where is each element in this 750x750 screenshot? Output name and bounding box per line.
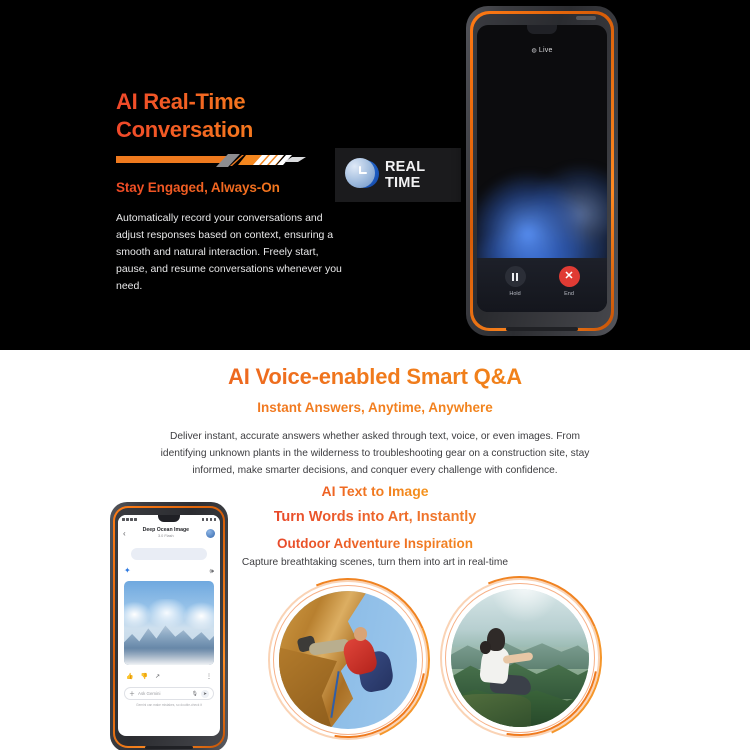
thumbs-up-icon[interactable]: 👍 (126, 673, 133, 680)
live-dot-icon: ◍ (531, 47, 536, 54)
thumbs-down-icon[interactable]: 👎 (140, 673, 147, 680)
section2-heading: AI Voice-enabled Smart Q&A (0, 364, 750, 390)
plus-icon[interactable]: ＋ (129, 689, 135, 698)
prompt-bubble (131, 548, 207, 560)
account-avatar-icon[interactable] (206, 529, 215, 538)
aurora-glow (477, 130, 607, 270)
feature-tagline: Turn Words into Art, Instantly (274, 509, 477, 525)
more-vertical-icon[interactable]: ⋮ (206, 673, 212, 680)
rock-climber-photo (279, 591, 417, 729)
feature-title-row: AI Text to Image (0, 483, 750, 501)
rugged-phone-realtime: ◍Live Hold ✕ End (466, 6, 618, 336)
microphone-icon[interactable]: 🎙 (192, 691, 198, 697)
hold-label: Hold (498, 291, 532, 297)
sparkle-icon[interactable]: ✦ (124, 567, 131, 575)
decorative-divider (116, 152, 306, 169)
section-realtime-conversation: AI Real-Time Conversation Stay Engaged, … (0, 0, 750, 350)
close-x-icon: ✕ (559, 266, 580, 287)
clock-icon (345, 158, 379, 192)
end-control[interactable]: ✕ End (552, 266, 586, 312)
camera-strip-icon (576, 16, 596, 20)
app-title-block: Deep Ocean Image 3.0 Flash (126, 527, 206, 538)
feature-sub: Outdoor Adventure Inspiration (277, 536, 473, 551)
section1-copy-block: AI Real-Time Conversation (116, 88, 356, 144)
live-status: ◍Live (477, 47, 607, 54)
app-model-label: 3.0 Flash (126, 534, 206, 538)
speaker-grill (145, 746, 192, 749)
mountain-overlook-photo (451, 589, 589, 727)
section-voice-qa: AI Voice-enabled Smart Q&A Instant Answe… (0, 350, 750, 750)
section2-subheading: Instant Answers, Anytime, Anywhere (0, 400, 750, 415)
feature-title: AI Text to Image (321, 483, 428, 499)
app-title: Deep Ocean Image (126, 527, 206, 533)
message-actions: 👍 👎 ↗ ⋮ (126, 671, 212, 681)
live-status-label: Live (539, 47, 553, 54)
status-right-icons (202, 518, 217, 521)
pause-icon (505, 266, 526, 287)
real-time-badge-label: REAL TIME (385, 159, 461, 191)
promo-page: AI Real-Time Conversation Stay Engaged, … (0, 0, 750, 750)
section1-heading: AI Real-Time Conversation (116, 88, 356, 144)
speaker-grill (506, 327, 579, 331)
ask-gemini-input[interactable]: ＋ Ask Gemini 🎙 ➤ (124, 687, 214, 700)
notch (158, 515, 180, 522)
notch (527, 25, 557, 34)
section1-body-text: Automatically record your conversations … (116, 210, 344, 295)
ask-gemini-placeholder: Ask Gemini (138, 691, 189, 696)
rugged-phone-gemini: ‹ Deep Ocean Image 3.0 Flash ✦ 🕪 (110, 502, 228, 750)
speaker-icon[interactable]: 🕪 (210, 568, 214, 575)
share-icon[interactable]: ↗ (155, 673, 160, 680)
phone-screen-call: ◍Live Hold ✕ End (477, 25, 607, 312)
ai-disclaimer: Gemini can make mistakes, so double-chec… (124, 703, 214, 707)
circle-photo-overlook (440, 578, 600, 738)
app-header: ‹ Deep Ocean Image 3.0 Flash (118, 525, 220, 547)
call-control-bar: Hold ✕ End (477, 258, 607, 312)
hold-control[interactable]: Hold (498, 266, 532, 312)
snow-mountain-photo (124, 581, 214, 665)
send-icon[interactable]: ➤ (201, 690, 209, 698)
section2-body-text: Deliver instant, accurate answers whethe… (155, 428, 595, 479)
circle-photo-climber (268, 580, 428, 740)
status-left-icons (122, 518, 137, 521)
phone-screen-gemini: ‹ Deep Ocean Image 3.0 Flash ✦ 🕪 (118, 515, 220, 736)
real-time-badge: REAL TIME (335, 148, 461, 202)
response-toolbar: ✦ 🕪 (124, 565, 214, 577)
end-label: End (552, 291, 586, 297)
